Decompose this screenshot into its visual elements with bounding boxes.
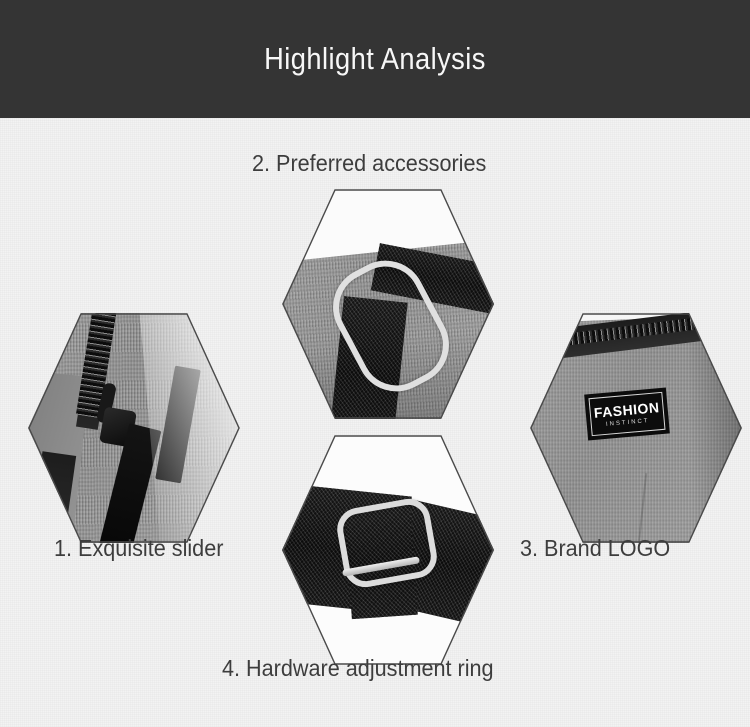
feature-hexagon-3: FASHION INSTINCT <box>530 313 742 543</box>
feature-caption-3: 3. Brand LOGO <box>520 535 670 562</box>
adjustment-ring-photo <box>282 435 494 665</box>
brand-patch-border: FASHION INSTINCT <box>588 392 665 436</box>
feature-hexagon-4 <box>282 435 494 665</box>
metal-adjustment-ring <box>334 495 440 590</box>
zipper-slider-photo: CENICE CENIC <box>28 313 240 543</box>
product-highlight-page: Highlight Analysis CENICE CENIC <box>0 0 750 727</box>
feature-caption-4: 4. Hardware adjustment ring <box>222 655 494 682</box>
brand-subtitle-text: INSTINCT <box>606 418 650 428</box>
feature-photo-4 <box>282 435 494 665</box>
feature-photo-1: CENICE CENIC <box>28 313 240 543</box>
feature-photo-2 <box>282 189 494 419</box>
feature-photo-3: FASHION INSTINCT <box>530 313 742 543</box>
bag-side-shadow <box>686 322 742 543</box>
brand-patch-photo: FASHION INSTINCT <box>530 313 742 543</box>
feature-caption-1: 1. Exquisite slider <box>54 535 223 562</box>
feature-caption-2: 2. Preferred accessories <box>252 150 486 177</box>
strap-ring-photo <box>282 189 494 419</box>
header-banner: Highlight Analysis <box>0 0 750 118</box>
bag-black-trim <box>28 451 76 543</box>
brand-patch: FASHION INSTINCT <box>584 388 670 441</box>
page-title: Highlight Analysis <box>264 41 486 77</box>
feature-hexagon-2 <box>282 189 494 419</box>
brand-name-text: FASHION <box>593 400 660 420</box>
feature-hexagon-1: CENICE CENIC <box>28 313 240 543</box>
